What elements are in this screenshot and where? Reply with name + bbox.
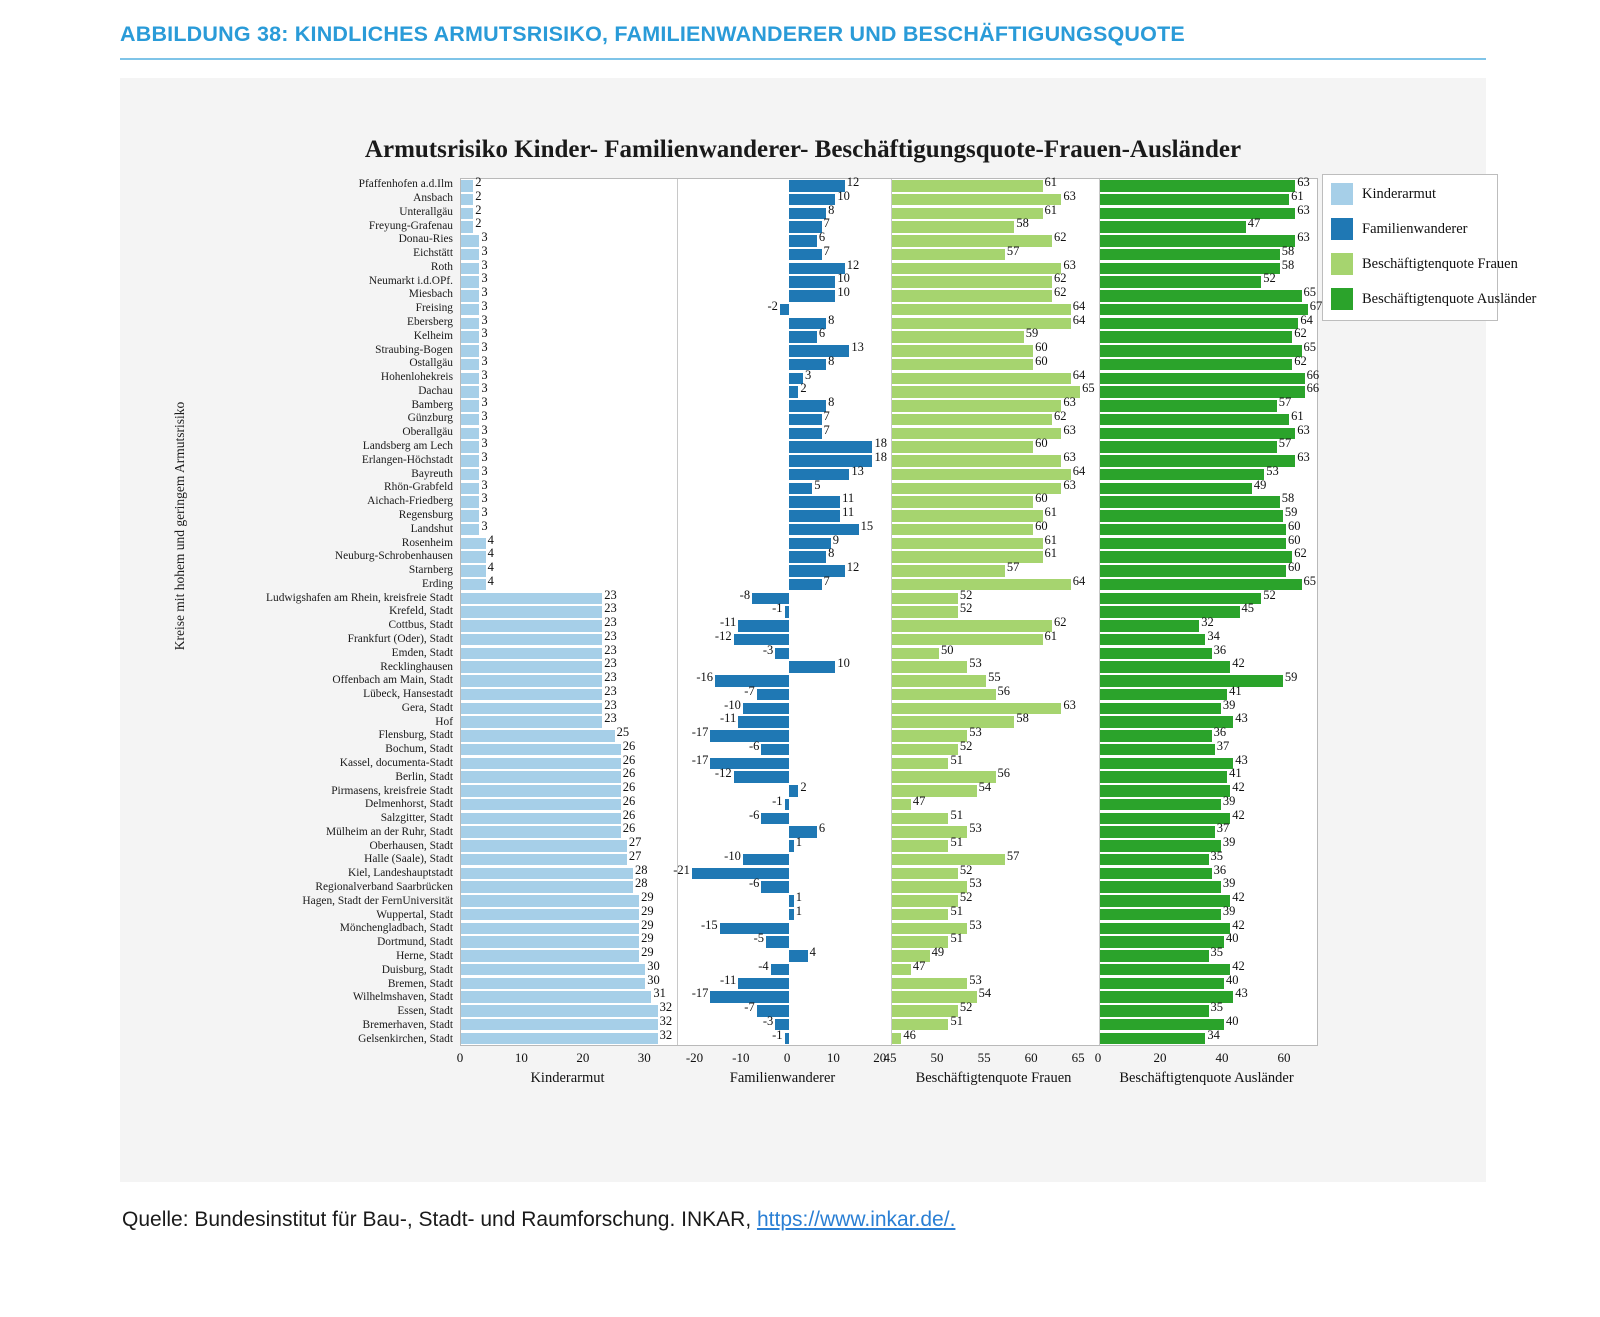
chart-bar-row: 61 [892,550,1099,564]
chart-bar-row: 37 [1100,743,1317,757]
bar-besch-ftigtenquote-ausl-nder [1100,771,1227,782]
bar-value-label: 61 [1291,410,1304,423]
y-axis-label: Günzburg [120,412,458,426]
bar-value-label: 29 [641,932,654,945]
bar-familienwanderer [789,235,817,246]
bar-kinderarmut [461,744,621,755]
chart-bar-row: 31 [461,990,677,1004]
bar-value-label: 65 [1082,382,1095,395]
chart-bar-row: 2 [461,220,677,234]
bar-value-label: 13 [851,465,864,478]
y-axis-label: Kassel, documenta-Stadt [120,757,458,771]
bar-kinderarmut [461,579,486,590]
y-axis-label: Landsberg am Lech [120,440,458,454]
bar-besch-ftigtenquote-frauen [892,799,911,810]
chart-bar-row: 47 [1100,220,1317,234]
bar-value-label: -17 [692,987,709,1000]
chart-bar-row: 23 [461,605,677,619]
chart-bar-row: 67 [1100,303,1317,317]
bar-value-label: 51 [950,754,963,767]
bar-value-label: 3 [481,396,487,409]
bar-familienwanderer [752,593,789,604]
x-tick-label: 60 [1025,1050,1038,1066]
bar-value-label: -12 [715,767,732,780]
figure-page: ABBILDUNG 38: KINDLICHES ARMUTSRISIKO, F… [0,0,1600,1317]
chart-bar-row: 6 [678,234,891,248]
bar-besch-ftigtenquote-frauen [892,895,958,906]
chart-bar-row: 11 [678,495,891,509]
bar-besch-ftigtenquote-frauen [892,840,948,851]
bar-value-label: 3 [481,410,487,423]
chart-bar-row: -5 [678,935,891,949]
chart-bar-row: 7 [678,413,891,427]
bar-value-label: 64 [1073,465,1086,478]
bar-value-label: 60 [1035,492,1048,505]
x-tick-label: -10 [732,1050,749,1066]
chart-bar-row: 60 [892,358,1099,372]
chart-bar-row: 29 [461,949,677,963]
chart-bar-row: 6 [678,825,891,839]
legend-item-kinderarmut: Kinderarmut [1331,183,1491,205]
bar-value-label: 60 [1288,520,1301,533]
chart-bar-row: 61 [892,207,1099,221]
bar-besch-ftigtenquote-ausl-nder [1100,276,1261,287]
y-axis-labels: Pfaffenhofen a.d.IlmAnsbachUnterallgäuFr… [120,178,458,1046]
y-axis-label: Recklinghausen [120,660,458,674]
legend-swatch-frauen [1331,253,1353,275]
bar-kinderarmut [461,716,602,727]
bar-value-label: 60 [1035,437,1048,450]
chart-bar-row: -7 [678,688,891,702]
y-axis-label: Kiel, Landeshauptstadt [120,867,458,881]
chart-bar-row: 60 [1100,523,1317,537]
chart-bar-row: 26 [461,757,677,771]
chart-bar-row: -6 [678,743,891,757]
chart-bar-row: -17 [678,990,891,1004]
bar-value-label: 49 [932,946,945,959]
y-axis-label: Gelsenkirchen, Stadt [120,1032,458,1046]
bar-besch-ftigtenquote-ausl-nder [1100,978,1224,989]
source-text: Quelle: Bundesinstitut für Bau-, Stadt- … [122,1208,757,1231]
y-axis-label: Unterallgäu [120,206,458,220]
chart-bar-row: 3 [461,372,677,386]
chart-bar-row: 3 [461,468,677,482]
chart-bar-row: 36 [1100,729,1317,743]
bar-value-label: 7 [824,217,830,230]
chart-bar-row: 53 [892,825,1099,839]
chart-bar-row: 63 [892,427,1099,441]
bar-value-label: 58 [1016,217,1029,230]
bar-kinderarmut [461,221,473,232]
chart-bar-row: -7 [678,1004,891,1018]
bar-value-label: 61 [1045,534,1058,547]
bar-kinderarmut [461,263,479,274]
chart-bar-row: 43 [1100,757,1317,771]
bar-value-label: 45 [1242,602,1255,615]
y-axis-label: Erding [120,578,458,592]
bar-value-label: 64 [1073,575,1086,588]
source-link[interactable]: https://www.inkar.de/. [757,1208,955,1231]
bar-value-label: 4 [488,547,494,560]
chart-bar-row: 52 [892,592,1099,606]
bar-besch-ftigtenquote-ausl-nder [1100,661,1230,672]
bar-kinderarmut [461,1033,658,1044]
bar-value-label: 18 [874,451,887,464]
chart-bar-row: 34 [1100,633,1317,647]
chart-bar-row: 3 [461,427,677,441]
chart-bar-row: 23 [461,688,677,702]
bar-value-label: 54 [979,987,992,1000]
bar-value-label: 63 [1063,699,1076,712]
y-axis-label: Ebersberg [120,316,458,330]
legend-item-frauen: Beschäftigtenquote Frauen [1331,253,1491,275]
bar-familienwanderer [785,606,790,617]
chart-bar-row: 63 [1100,454,1317,468]
bar-besch-ftigtenquote-frauen [892,648,939,659]
bar-kinderarmut [461,771,621,782]
legend-label-kinderarmut: Kinderarmut [1362,186,1436,203]
chart-bar-row: 3 [678,372,891,386]
bar-besch-ftigtenquote-ausl-nder [1100,235,1295,246]
y-axis-label: Regensburg [120,509,458,523]
chart-bar-row: 51 [892,812,1099,826]
bar-besch-ftigtenquote-frauen [892,606,958,617]
bar-besch-ftigtenquote-ausl-nder [1100,675,1283,686]
y-axis-label: Freising [120,302,458,316]
chart-bar-row: 35 [1100,853,1317,867]
bar-value-label: 3 [481,286,487,299]
chart-title: Armutsrisiko Kinder- Familienwanderer- B… [120,136,1486,164]
bar-value-label: 63 [1063,190,1076,203]
subpanel-auslaender: 6361634763585852656764626562666657616357… [1099,179,1317,1045]
x-tick-label: 20 [576,1050,589,1066]
chart-bar-row: 23 [461,647,677,661]
bar-value-label: 3 [481,245,487,258]
y-axis-label: Oberallgäu [120,426,458,440]
y-axis-label: Duisburg, Stadt [120,964,458,978]
bar-kinderarmut [461,868,633,879]
bar-kinderarmut [461,483,479,494]
bar-familienwanderer [789,263,845,274]
bar-value-label: 4 [488,575,494,588]
chart-bar-row: 61 [892,537,1099,551]
plot-area: 2222333333333333333333333344442323232323… [460,178,1318,1046]
chart-bar-row: 53 [892,922,1099,936]
chart-bar-row: -3 [678,647,891,661]
bar-besch-ftigtenquote-frauen [892,689,996,700]
chart-bar-row: 3 [461,454,677,468]
bar-besch-ftigtenquote-ausl-nder [1100,648,1212,659]
bar-familienwanderer [789,441,872,452]
bar-value-label: 36 [1214,644,1227,657]
chart-bar-row: 26 [461,798,677,812]
chart-bar-row: 32 [461,1032,677,1046]
bar-besch-ftigtenquote-frauen [892,868,958,879]
bar-besch-ftigtenquote-ausl-nder [1100,703,1221,714]
bar-value-label: 2 [800,781,806,794]
bar-value-label: 28 [635,877,648,890]
bar-value-label: -8 [740,589,750,602]
bar-value-label: 26 [623,822,636,835]
bar-familienwanderer [757,689,789,700]
bar-value-label: -3 [763,644,773,657]
subpanel-kinderarmut: 2222333333333333333333333344442323232323… [461,179,677,1045]
chart-bar-row: 61 [1100,413,1317,427]
chart-bar-row: -3 [678,1018,891,1032]
bar-kinderarmut [461,881,633,892]
bar-value-label: 34 [1207,1029,1220,1042]
bar-kinderarmut [461,758,621,769]
bar-besch-ftigtenquote-ausl-nder [1100,373,1305,384]
bar-besch-ftigtenquote-ausl-nder [1100,744,1215,755]
chart-bar-row: 4 [678,949,891,963]
x-axis-4: 0204060Beschäftigtenquote Ausländer [1098,1046,1315,1116]
bar-value-label: -10 [724,850,741,863]
bar-value-label: 42 [1232,781,1245,794]
bar-kinderarmut [461,524,479,535]
bar-besch-ftigtenquote-ausl-nder [1100,785,1230,796]
chart-bar-row: 61 [1100,193,1317,207]
chart-bar-row: 60 [1100,537,1317,551]
chart-bar-row: 62 [892,275,1099,289]
bar-familienwanderer [789,895,794,906]
bar-value-label: 3 [481,300,487,313]
bar-familienwanderer [789,428,821,439]
chart-bar-row: 8 [678,207,891,221]
bar-value-label: 26 [623,767,636,780]
y-axis-label: Ansbach [120,192,458,206]
chart-bar-row: -1 [678,798,891,812]
bar-besch-ftigtenquote-frauen [892,785,977,796]
x-axis-title: Beschäftigtenquote Ausländer [1098,1070,1315,1087]
chart-bar-row: 64 [892,317,1099,331]
bar-besch-ftigtenquote-ausl-nder [1100,414,1289,425]
bar-value-label: 26 [623,740,636,753]
chart-bar-row: 62 [892,234,1099,248]
bar-value-label: 29 [641,905,654,918]
bar-value-label: 23 [604,616,617,629]
x-tick-label: 65 [1072,1050,1085,1066]
bar-value-label: 51 [950,1015,963,1028]
bar-kinderarmut [461,909,639,920]
chart-bar-row: 43 [1100,990,1317,1004]
bar-familienwanderer [771,964,790,975]
bar-kinderarmut [461,991,651,1002]
chart-bar-row: 3 [461,509,677,523]
bar-value-label: 32 [660,1029,673,1042]
chart-bar-row: -1 [678,1032,891,1046]
bar-value-label: 39 [1223,699,1236,712]
bar-value-label: 4 [488,534,494,547]
bar-besch-ftigtenquote-ausl-nder [1100,634,1205,645]
subpanel-familienwanderer: 12108767121010-2861383287718181351111159… [677,179,891,1045]
bar-value-label: -15 [701,919,718,932]
bar-value-label: 1 [796,905,802,918]
bar-besch-ftigtenquote-frauen [892,496,1033,507]
bar-kinderarmut [461,565,486,576]
bar-value-label: 59 [1026,327,1039,340]
chart-bar-row: -17 [678,729,891,743]
bar-value-label: 29 [641,891,654,904]
bar-value-label: 62 [1054,231,1067,244]
bar-value-label: 6 [819,231,825,244]
chart-bar-row: 18 [678,440,891,454]
chart-bar-row: 39 [1100,908,1317,922]
chart-bar-row: 3 [461,289,677,303]
legend-label-familienwanderer: Familienwanderer [1362,221,1468,238]
bar-value-label: 4 [810,946,816,959]
chart-bar-row: 41 [1100,688,1317,702]
bar-value-label: 58 [1282,259,1295,272]
bar-kinderarmut [461,538,486,549]
bar-value-label: 10 [837,190,850,203]
bar-familienwanderer [761,813,789,824]
chart-bar-row: 8 [678,358,891,372]
chart-bar-row: 59 [1100,509,1317,523]
bar-value-label: 61 [1291,190,1304,203]
bar-value-label: 30 [647,974,660,987]
bar-value-label: 43 [1235,987,1248,1000]
bar-familienwanderer [738,620,789,631]
bar-besch-ftigtenquote-ausl-nder [1100,290,1302,301]
bar-besch-ftigtenquote-frauen [892,634,1043,645]
bar-value-label: 39 [1223,877,1236,890]
bar-value-label: 27 [629,850,642,863]
bar-kinderarmut [461,840,627,851]
bar-value-label: 52 [1263,272,1276,285]
y-axis-label: Bremerhaven, Stadt [120,1019,458,1033]
chart-bar-row: 63 [892,193,1099,207]
bar-besch-ftigtenquote-ausl-nder [1100,758,1233,769]
bar-value-label: 3 [481,369,487,382]
bar-value-label: 3 [481,314,487,327]
chart-bar-row: 23 [461,702,677,716]
bar-besch-ftigtenquote-ausl-nder [1100,510,1283,521]
bar-besch-ftigtenquote-ausl-nder [1100,909,1221,920]
bar-besch-ftigtenquote-frauen [892,854,1005,865]
bar-value-label: 42 [1232,919,1245,932]
bar-value-label: 3 [481,424,487,437]
bar-besch-ftigtenquote-ausl-nder [1100,620,1199,631]
bar-kinderarmut [461,414,479,425]
y-axis-label: Oberhausen, Stadt [120,840,458,854]
bar-besch-ftigtenquote-ausl-nder [1100,1019,1224,1030]
bar-familienwanderer [789,909,794,920]
chart-bar-row: 62 [1100,330,1317,344]
bar-besch-ftigtenquote-frauen [892,331,1024,342]
bar-value-label: 53 [969,919,982,932]
bar-value-label: 60 [1035,341,1048,354]
y-axis-label: Mönchengladbach, Stadt [120,922,458,936]
bar-kinderarmut [461,1005,658,1016]
legend-swatch-auslaender [1331,288,1353,310]
bar-value-label: 35 [1211,946,1224,959]
y-axis-label: Starnberg [120,564,458,578]
bar-value-label: 53 [969,726,982,739]
bar-value-label: 62 [1054,616,1067,629]
chart-bar-row: -8 [678,592,891,606]
chart-bar-row: 10 [678,193,891,207]
chart-bar-row: 7 [678,220,891,234]
chart-bar-row: 39 [1100,798,1317,812]
bar-value-label: 29 [641,919,654,932]
chart-legend: Kinderarmut Familienwanderer Beschäftigt… [1322,174,1498,321]
bar-value-label: 11 [842,492,854,505]
bar-familienwanderer [789,565,845,576]
bar-besch-ftigtenquote-ausl-nder [1100,386,1305,397]
bar-value-label: 3 [481,341,487,354]
chart-bar-row: 59 [892,330,1099,344]
chart-bar-row: 52 [892,605,1099,619]
x-axis-title: Beschäftigtenquote Frauen [890,1070,1097,1087]
chart-bar-row: 40 [1100,935,1317,949]
bar-kinderarmut [461,304,479,315]
chart-bar-row: 3 [461,248,677,262]
bar-value-label: 67 [1310,300,1323,313]
bar-value-label: 53 [969,877,982,890]
bar-familienwanderer [692,868,789,879]
bar-value-label: 26 [623,781,636,794]
x-axis-title: Kinderarmut [460,1070,675,1087]
bar-value-label: 63 [1063,396,1076,409]
bar-familienwanderer [789,661,835,672]
chart-bar-row: 57 [892,564,1099,578]
y-axis-label: Erlangen-Höchstadt [120,454,458,468]
bar-value-label: 51 [950,836,963,849]
chart-bar-row: 39 [1100,880,1317,894]
bar-kinderarmut [461,606,602,617]
bar-value-label: -10 [724,699,741,712]
chart-bar-row: 2 [461,207,677,221]
legend-item-auslaender: Beschäftigtenquote Ausländer [1331,288,1491,310]
chart-bar-row: 42 [1100,963,1317,977]
chart-bar-row: 30 [461,977,677,991]
bar-value-label: 63 [1063,479,1076,492]
y-axis-label: Bayreuth [120,467,458,481]
bar-besch-ftigtenquote-ausl-nder [1100,840,1221,851]
bar-value-label: 31 [653,987,666,1000]
chart-bar-row: 53 [892,880,1099,894]
y-axis-label: Rosenheim [120,536,458,550]
bar-besch-ftigtenquote-frauen [892,909,948,920]
bar-besch-ftigtenquote-frauen [892,1033,901,1044]
chart-bar-row: 23 [461,592,677,606]
bar-value-label: 61 [1045,176,1058,189]
bar-value-label: 10 [837,657,850,670]
bar-kinderarmut [461,400,479,411]
bar-value-label: 64 [1300,314,1313,327]
bar-besch-ftigtenquote-ausl-nder [1100,730,1212,741]
bar-besch-ftigtenquote-frauen [892,345,1033,356]
chart-bar-row: -15 [678,922,891,936]
bar-besch-ftigtenquote-ausl-nder [1100,263,1280,274]
bar-value-label: 57 [1007,561,1020,574]
chart-bar-row: 10 [678,275,891,289]
bar-value-label: 29 [641,946,654,959]
chart-bar-row: 12 [678,179,891,193]
chart-bar-row: 51 [892,908,1099,922]
bar-value-label: 12 [847,561,860,574]
bar-besch-ftigtenquote-frauen [892,318,1071,329]
chart-bar-row: 3 [461,385,677,399]
bar-value-label: 23 [604,630,617,643]
bar-familienwanderer [789,950,808,961]
chart-bar-row: 23 [461,715,677,729]
bar-besch-ftigtenquote-frauen [892,716,1014,727]
bar-kinderarmut [461,290,479,301]
bar-besch-ftigtenquote-frauen [892,359,1033,370]
bar-value-label: 39 [1223,836,1236,849]
